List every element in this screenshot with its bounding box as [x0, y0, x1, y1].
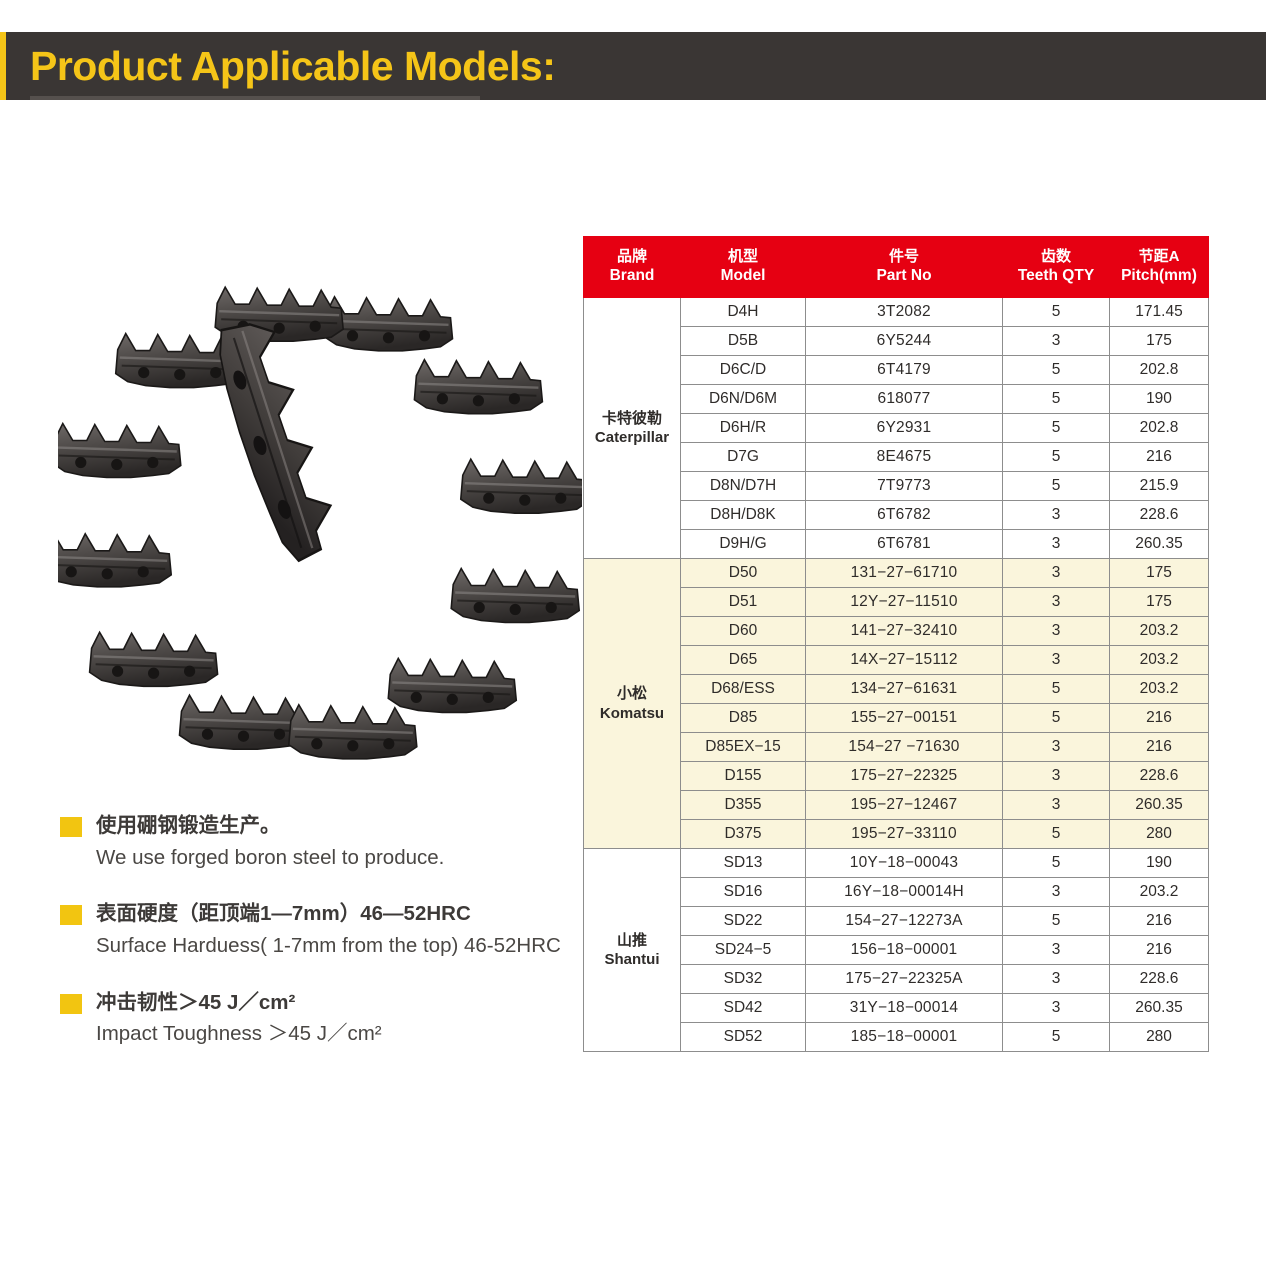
model-cell: D51: [681, 588, 806, 617]
teeth-qty-cell: 3: [1003, 501, 1110, 530]
header-accent-bar: [0, 32, 6, 100]
feature-text-en: Impact Toughness ＞45 J／cm²: [96, 1019, 580, 1049]
part-no-cell: 185−18−00001: [806, 1023, 1003, 1052]
teeth-qty-cell: 3: [1003, 559, 1110, 588]
model-cell: SD24−5: [681, 936, 806, 965]
teeth-qty-cell: 3: [1003, 733, 1110, 762]
model-cell: D60: [681, 617, 806, 646]
part-no-cell: 141−27−32410: [806, 617, 1003, 646]
part-no-cell: 154−27−12273A: [806, 907, 1003, 936]
model-cell: D6N/D6M: [681, 385, 806, 414]
teeth-qty-cell: 5: [1003, 1023, 1110, 1052]
part-no-cell: 175−27−22325A: [806, 965, 1003, 994]
feature-item: 冲击韧性＞45 J／cm² Impact Toughness ＞45 J／cm²: [60, 989, 580, 1049]
model-cell: SD32: [681, 965, 806, 994]
teeth-qty-cell: 5: [1003, 298, 1110, 327]
feature-text-en: Surface Harduess( 1-7mm from the top) 46…: [96, 931, 580, 961]
pitch-cell: 175: [1110, 327, 1209, 356]
teeth-qty-cell: 3: [1003, 588, 1110, 617]
model-cell: D85: [681, 704, 806, 733]
pitch-cell: 203.2: [1110, 617, 1209, 646]
brand-name-en: Shantui: [584, 950, 680, 970]
bullet-square-icon: [60, 817, 82, 837]
product-features-list: 使用硼钢锻造生产。 We use forged boron steel to p…: [60, 812, 580, 1077]
part-no-cell: 16Y−18−00014H: [806, 878, 1003, 907]
brand-name-en: Komatsu: [584, 704, 680, 724]
teeth-qty-cell: 5: [1003, 472, 1110, 501]
part-no-cell: 6Y5244: [806, 327, 1003, 356]
part-no-cell: 195−27−33110: [806, 820, 1003, 849]
teeth-qty-cell: 3: [1003, 617, 1110, 646]
table-row: 小松KomatsuD50131−27−617103175: [584, 559, 1209, 588]
model-cell: D85EX−15: [681, 733, 806, 762]
part-no-cell: 618077: [806, 385, 1003, 414]
page-header-banner: Product Applicable Models:: [0, 32, 1266, 100]
pitch-cell: 203.2: [1110, 646, 1209, 675]
applicable-models-table-container: 品牌 Brand 机型 Model 件号 Part No 齿数 Teeth QT…: [583, 236, 1209, 1052]
pitch-cell: 215.9: [1110, 472, 1209, 501]
teeth-qty-cell: 5: [1003, 820, 1110, 849]
model-cell: SD52: [681, 1023, 806, 1052]
teeth-qty-cell: 5: [1003, 849, 1110, 878]
product-photo-sprocket-segments: [58, 196, 582, 796]
model-cell: D6H/R: [681, 414, 806, 443]
model-cell: D375: [681, 820, 806, 849]
part-no-cell: 154−27 −71630: [806, 733, 1003, 762]
pitch-cell: 280: [1110, 1023, 1209, 1052]
pitch-cell: 228.6: [1110, 762, 1209, 791]
teeth-qty-cell: 5: [1003, 675, 1110, 704]
pitch-cell: 260.35: [1110, 530, 1209, 559]
part-no-cell: 156−18−00001: [806, 936, 1003, 965]
teeth-qty-cell: 5: [1003, 356, 1110, 385]
sprocket-ring-illustration: [58, 196, 582, 796]
part-no-cell: 7T9773: [806, 472, 1003, 501]
teeth-qty-cell: 3: [1003, 994, 1110, 1023]
teeth-qty-cell: 3: [1003, 530, 1110, 559]
feature-item: 使用硼钢锻造生产。 We use forged boron steel to p…: [60, 812, 580, 872]
brand-name-cn: 卡特彼勒: [584, 409, 680, 429]
pitch-cell: 175: [1110, 559, 1209, 588]
teeth-qty-cell: 5: [1003, 704, 1110, 733]
table-row: 卡特彼勒CaterpillarD4H3T20825171.45: [584, 298, 1209, 327]
column-header-brand: 品牌 Brand: [584, 237, 681, 298]
pitch-cell: 203.2: [1110, 878, 1209, 907]
teeth-qty-cell: 3: [1003, 762, 1110, 791]
teeth-qty-cell: 3: [1003, 791, 1110, 820]
bullet-square-icon: [60, 994, 82, 1014]
teeth-qty-cell: 5: [1003, 385, 1110, 414]
brand-name-cn: 小松: [584, 684, 680, 704]
teeth-qty-cell: 3: [1003, 327, 1110, 356]
pitch-cell: 216: [1110, 907, 1209, 936]
part-no-cell: 6T6781: [806, 530, 1003, 559]
pitch-cell: 228.6: [1110, 501, 1209, 530]
page-title: Product Applicable Models:: [30, 46, 555, 87]
part-no-cell: 31Y−18−00014: [806, 994, 1003, 1023]
teeth-qty-cell: 3: [1003, 965, 1110, 994]
applicable-models-table: 品牌 Brand 机型 Model 件号 Part No 齿数 Teeth QT…: [583, 236, 1209, 1052]
model-cell: D50: [681, 559, 806, 588]
bullet-square-icon: [60, 905, 82, 925]
pitch-cell: 202.8: [1110, 356, 1209, 385]
header-underline: [30, 96, 480, 100]
pitch-cell: 175: [1110, 588, 1209, 617]
model-cell: D68/ESS: [681, 675, 806, 704]
feature-text-en: We use forged boron steel to produce.: [96, 843, 580, 873]
table-body: 卡特彼勒CaterpillarD4H3T20825171.45D5B6Y5244…: [584, 298, 1209, 1052]
pitch-cell: 190: [1110, 849, 1209, 878]
model-cell: D8N/D7H: [681, 472, 806, 501]
column-header-model: 机型 Model: [681, 237, 806, 298]
brand-cell: 山推Shantui: [584, 849, 681, 1052]
feature-text-cn: 表面硬度（距顶端1—7mm）46—52HRC: [96, 900, 580, 928]
part-no-cell: 155−27−00151: [806, 704, 1003, 733]
part-no-cell: 175−27−22325: [806, 762, 1003, 791]
model-cell: D65: [681, 646, 806, 675]
model-cell: D5B: [681, 327, 806, 356]
part-no-cell: 6Y2931: [806, 414, 1003, 443]
model-cell: SD13: [681, 849, 806, 878]
pitch-cell: 203.2: [1110, 675, 1209, 704]
model-cell: SD22: [681, 907, 806, 936]
pitch-cell: 216: [1110, 443, 1209, 472]
column-header-pitch: 节距A Pitch(mm): [1110, 237, 1209, 298]
model-cell: D8H/D8K: [681, 501, 806, 530]
model-cell: D155: [681, 762, 806, 791]
feature-text-cn: 使用硼钢锻造生产。: [96, 812, 580, 840]
teeth-qty-cell: 5: [1003, 443, 1110, 472]
table-head: 品牌 Brand 机型 Model 件号 Part No 齿数 Teeth QT…: [584, 237, 1209, 298]
teeth-qty-cell: 3: [1003, 878, 1110, 907]
model-cell: D355: [681, 791, 806, 820]
part-no-cell: 10Y−18−00043: [806, 849, 1003, 878]
model-cell: D6C/D: [681, 356, 806, 385]
feature-text-cn: 冲击韧性＞45 J／cm²: [96, 989, 580, 1017]
pitch-cell: 260.35: [1110, 994, 1209, 1023]
teeth-qty-cell: 3: [1003, 936, 1110, 965]
part-no-cell: 6T4179: [806, 356, 1003, 385]
part-no-cell: 12Y−27−11510: [806, 588, 1003, 617]
pitch-cell: 260.35: [1110, 791, 1209, 820]
model-cell: D4H: [681, 298, 806, 327]
brand-name-cn: 山推: [584, 931, 680, 951]
model-cell: SD16: [681, 878, 806, 907]
part-no-cell: 8E4675: [806, 443, 1003, 472]
pitch-cell: 216: [1110, 936, 1209, 965]
pitch-cell: 216: [1110, 704, 1209, 733]
pitch-cell: 228.6: [1110, 965, 1209, 994]
brand-cell: 卡特彼勒Caterpillar: [584, 298, 681, 559]
part-no-cell: 14X−27−15112: [806, 646, 1003, 675]
table-row: 山推ShantuiSD1310Y−18−000435190: [584, 849, 1209, 878]
teeth-qty-cell: 3: [1003, 646, 1110, 675]
brand-name-en: Caterpillar: [584, 428, 680, 448]
model-cell: D7G: [681, 443, 806, 472]
pitch-cell: 171.45: [1110, 298, 1209, 327]
pitch-cell: 202.8: [1110, 414, 1209, 443]
part-no-cell: 195−27−12467: [806, 791, 1003, 820]
pitch-cell: 190: [1110, 385, 1209, 414]
pitch-cell: 216: [1110, 733, 1209, 762]
part-no-cell: 3T2082: [806, 298, 1003, 327]
column-header-part-no: 件号 Part No: [806, 237, 1003, 298]
teeth-qty-cell: 5: [1003, 907, 1110, 936]
column-header-teeth-qty: 齿数 Teeth QTY: [1003, 237, 1110, 298]
part-no-cell: 134−27−61631: [806, 675, 1003, 704]
teeth-qty-cell: 5: [1003, 414, 1110, 443]
brand-cell: 小松Komatsu: [584, 559, 681, 849]
table-header-row: 品牌 Brand 机型 Model 件号 Part No 齿数 Teeth QT…: [584, 237, 1209, 298]
pitch-cell: 280: [1110, 820, 1209, 849]
model-cell: SD42: [681, 994, 806, 1023]
feature-item: 表面硬度（距顶端1—7mm）46—52HRC Surface Harduess(…: [60, 900, 580, 960]
part-no-cell: 6T6782: [806, 501, 1003, 530]
model-cell: D9H/G: [681, 530, 806, 559]
part-no-cell: 131−27−61710: [806, 559, 1003, 588]
